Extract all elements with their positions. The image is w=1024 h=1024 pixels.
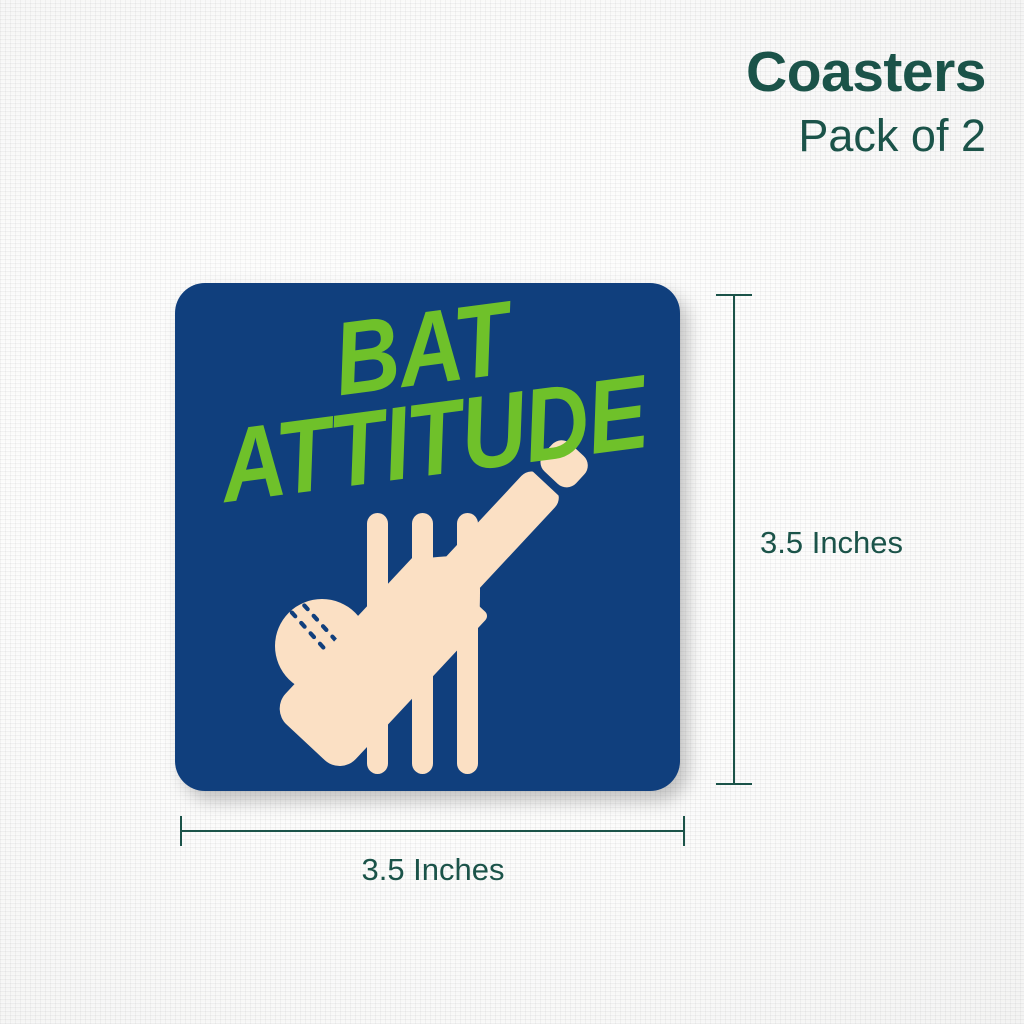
page-title: Coasters [746,44,986,101]
width-dimension-cap-left [180,816,182,846]
height-dimension-line [733,294,735,785]
height-dimension-label: 3.5 Inches [760,525,903,561]
pack-quantity-subtitle: Pack of 2 [746,113,986,158]
product-header: Coasters Pack of 2 [746,44,986,158]
height-dimension-cap-bottom [716,783,752,785]
width-dimension-line [180,830,685,832]
coaster-product: BAT ATTITUDE [175,283,680,791]
width-dimension-label: 3.5 Inches [0,852,866,888]
height-dimension-cap-top [716,294,752,296]
product-image-canvas: Coasters Pack of 2 [0,0,1024,1024]
width-dimension-cap-right [683,816,685,846]
